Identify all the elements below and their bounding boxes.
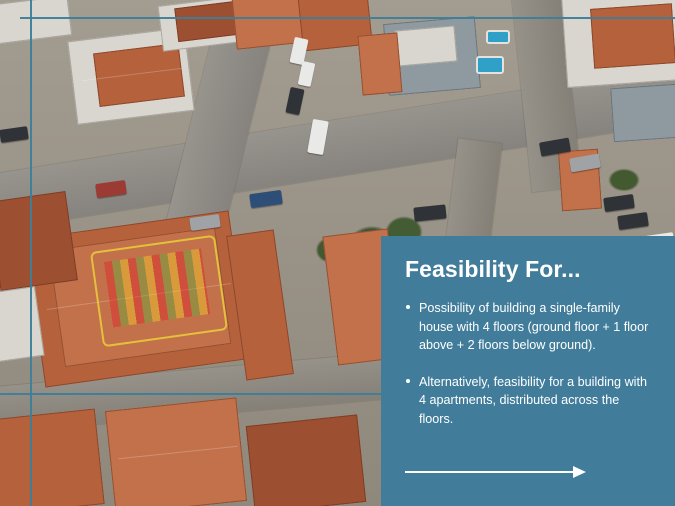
building-roof bbox=[357, 32, 402, 95]
building-roof bbox=[93, 43, 185, 107]
building-roof bbox=[0, 0, 72, 45]
list-item-text: Alternatively, feasibility for a buildin… bbox=[419, 375, 647, 426]
bullet-dot-icon bbox=[406, 379, 410, 383]
bullet-dot-icon bbox=[406, 305, 410, 309]
building-roof bbox=[395, 25, 458, 66]
list-item: Possibility of building a single-family … bbox=[405, 299, 651, 355]
car bbox=[0, 126, 29, 143]
list-item-text: Possibility of building a single-family … bbox=[419, 301, 648, 352]
arrow-right-icon bbox=[405, 465, 587, 479]
building-roof bbox=[0, 191, 78, 291]
slide: Feasibility For... Possibility of buildi… bbox=[0, 0, 675, 506]
car bbox=[249, 190, 283, 208]
car bbox=[617, 212, 649, 230]
car bbox=[413, 204, 446, 221]
panel-title: Feasibility For... bbox=[405, 256, 581, 283]
list-item: Alternatively, feasibility for a buildin… bbox=[405, 373, 651, 429]
car bbox=[298, 61, 316, 87]
plot-highlight bbox=[104, 249, 210, 328]
building-roof bbox=[246, 414, 367, 506]
arrow-head bbox=[573, 466, 586, 478]
building-roof bbox=[590, 3, 675, 69]
swimming-pool bbox=[476, 56, 504, 74]
car bbox=[285, 87, 304, 115]
building-roof bbox=[0, 409, 105, 506]
swimming-pool bbox=[486, 30, 510, 44]
guide-line-top bbox=[20, 17, 675, 19]
bullet-list: Possibility of building a single-family … bbox=[405, 299, 651, 446]
guide-line-left bbox=[30, 0, 32, 506]
building-roof bbox=[610, 84, 675, 142]
arrow-shaft bbox=[405, 471, 577, 473]
feasibility-panel: Feasibility For... Possibility of buildi… bbox=[381, 236, 675, 506]
car bbox=[603, 194, 635, 212]
